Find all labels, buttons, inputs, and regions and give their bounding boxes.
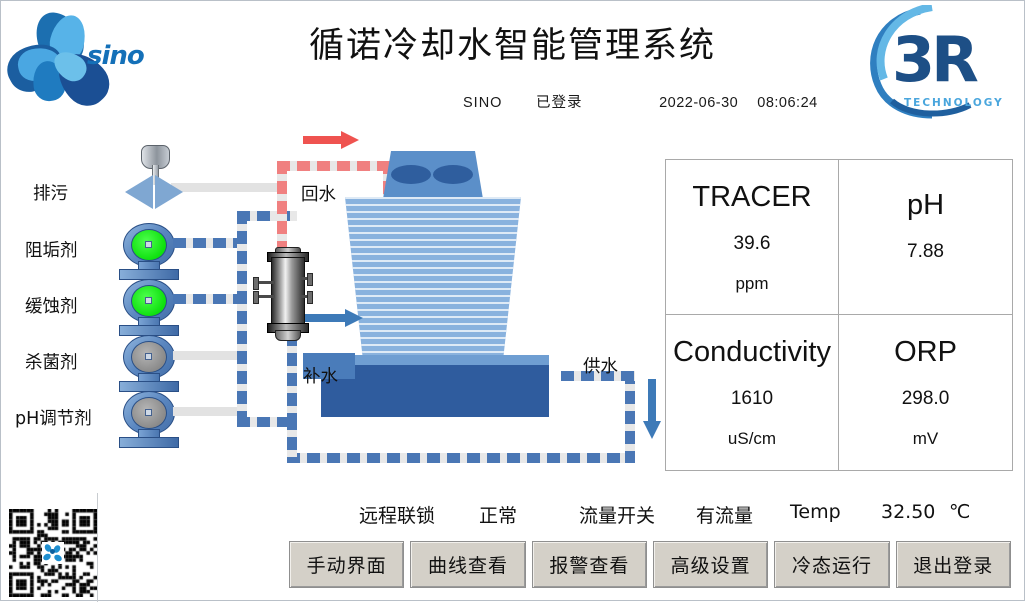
header: sino 循诺冷却水智能管理系统 SINO 已登录 2022-06-30 08:… <box>1 1 1024 123</box>
measurement-panel: TRACER 39.6 ppm pH 7.88 Conductivity 161… <box>665 159 1013 471</box>
arrow-makeup-flow-icon <box>305 309 363 327</box>
label-antiscalant: 阻垢剂 <box>25 237 78 262</box>
readout-name: ORP <box>894 338 957 367</box>
tower-shell <box>345 197 521 357</box>
advanced-settings-button[interactable]: 高级设置 <box>653 541 768 588</box>
readout-value: 7.88 <box>907 242 944 261</box>
loop-pipe-bottom <box>287 453 635 463</box>
cold-start-run-button[interactable]: 冷态运行 <box>774 541 889 588</box>
readout-name: Conductivity <box>673 338 831 367</box>
tower-basin <box>321 365 549 417</box>
qr-center-logo <box>42 542 64 564</box>
label-blowdown: 排污 <box>33 180 68 205</box>
pump-biocide[interactable] <box>119 335 177 391</box>
temperature-unit: ℃ <box>949 501 970 523</box>
blowdown-valve-icon[interactable] <box>119 145 189 207</box>
trend-curve-button[interactable]: 曲线查看 <box>410 541 525 588</box>
dosing-line-corrosion-inhibitor <box>173 294 245 304</box>
tower-louvers <box>345 197 521 357</box>
dosing-line-ph-adjuster <box>173 407 245 416</box>
label-supply-water: 供水 <box>583 353 618 378</box>
loop-pipe-bottom-left-riser <box>287 417 297 463</box>
pump-corrosion-inhibitor[interactable] <box>119 279 177 335</box>
readout-tracer: TRACER 39.6 ppm <box>666 160 839 315</box>
readout-ph: pH 7.88 <box>839 160 1012 315</box>
readout-unit: mV <box>913 430 939 447</box>
flow-switch-value: 有流量 <box>696 501 753 528</box>
pump-ph-adjuster[interactable] <box>119 391 177 447</box>
qr-code[interactable] <box>9 509 97 597</box>
alarm-view-button[interactable]: 报警查看 <box>532 541 647 588</box>
temperature-value: 32.50 <box>881 501 935 523</box>
3r-logo-subtitle: TECHNOLOGY <box>904 97 1004 109</box>
temperature-label: Temp <box>790 501 841 523</box>
return-pipe-top <box>277 161 393 171</box>
readout-unit: ppm <box>735 275 768 292</box>
label-corrosion-inhibitor: 缓蚀剂 <box>25 293 78 318</box>
readout-value: 39.6 <box>734 234 771 253</box>
login-status: 已登录 <box>536 91 654 112</box>
label-makeup-water: 补水 <box>303 363 338 388</box>
readout-conductivity: Conductivity 1610 uS/cm <box>666 315 839 470</box>
3r-logo-text: 3R <box>892 23 975 96</box>
readout-name: pH <box>907 191 944 220</box>
loop-pipe-right <box>625 371 635 463</box>
3r-technology-logo: 3R TECHNOLOGY <box>862 5 1018 119</box>
status-bar: 远程联锁 正常 流量开关 有流量 Temp 32.50 ℃ <box>1 493 1025 535</box>
readout-unit: uS/cm <box>728 430 776 447</box>
fan-blade-left <box>391 165 431 184</box>
process-diagram: 排污 阻垢剂 缓蚀剂 杀菌剂 pH调节剂 <box>1 123 661 493</box>
pump-antiscalant[interactable] <box>119 223 177 279</box>
navigation-button-bar: 手动界面 曲线查看 报警查看 高级设置 冷态运行 退出登录 <box>289 541 1011 588</box>
username: SINO <box>463 95 531 111</box>
dosing-line-biocide <box>173 351 245 360</box>
remote-interlock-label: 远程联锁 <box>359 501 435 528</box>
readout-name: TRACER <box>692 183 811 212</box>
label-return-water: 回水 <box>301 181 336 206</box>
loop-pipe-left <box>237 211 247 427</box>
session-info: SINO 已登录 2022-06-30 08:06:24 <box>463 91 818 112</box>
remote-interlock-value: 正常 <box>479 501 517 528</box>
hmi-screen: sino 循诺冷却水智能管理系统 SINO 已登录 2022-06-30 08:… <box>0 0 1025 601</box>
system-time: 08:06:24 <box>757 95 817 111</box>
readout-orp: ORP 298.0 mV <box>839 315 1012 470</box>
system-date: 2022-06-30 <box>659 95 738 111</box>
arrow-return-flow-icon <box>303 131 359 149</box>
tower-basin-top <box>321 355 549 365</box>
footer-divider <box>97 493 98 602</box>
dosing-line-antiscalant <box>173 238 245 248</box>
label-biocide: 杀菌剂 <box>25 349 78 374</box>
fan-blade-right <box>433 165 473 184</box>
readout-value: 298.0 <box>902 389 950 408</box>
label-ph-adjuster: pH调节剂 <box>15 405 92 430</box>
logout-button[interactable]: 退出登录 <box>896 541 1011 588</box>
return-pipe-left <box>277 161 287 249</box>
water-analyzer-icon[interactable] <box>263 247 311 339</box>
tower-fan-hood <box>383 151 483 199</box>
flow-switch-label: 流量开关 <box>579 501 655 528</box>
manual-interface-button[interactable]: 手动界面 <box>289 541 404 588</box>
readout-value: 1610 <box>731 389 773 408</box>
arrow-supply-flow-icon <box>643 379 661 439</box>
